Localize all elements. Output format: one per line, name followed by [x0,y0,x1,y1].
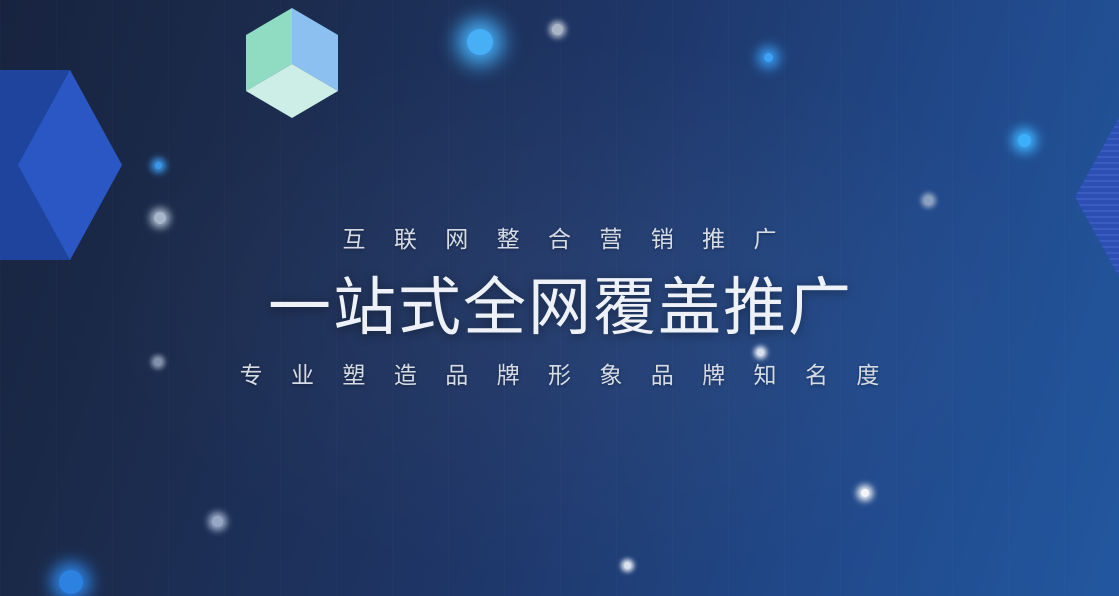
hero-eyebrow-text: 互 联 网 整 合 营 销 推 广 [0,222,1119,256]
glow-dot-pale-right [924,196,933,205]
isometric-cube-logo [243,4,341,122]
glow-dot-bottom-mid [624,562,631,569]
glow-dot-cyan-large [467,29,493,55]
glow-dot-blue [764,53,773,62]
hero-tagline-text: 专 业 塑 造 品 牌 形 象 品 牌 知 名 度 [0,358,1119,392]
glow-dot-bottom-blue [59,570,83,594]
glow-dot-lower-left [212,516,223,527]
glow-dot-white-right [861,489,869,497]
glow-dot-white-small [552,24,563,35]
hero-headline-text: 一站式全网覆盖推广 [0,270,1119,346]
hero-text-block: 互 联 网 整 合 营 销 推 广 一站式全网覆盖推广 专 业 塑 造 品 牌 … [0,222,1119,392]
hero-banner: 互 联 网 整 合 营 销 推 广 一站式全网覆盖推广 专 业 塑 造 品 牌 … [0,0,1119,596]
glow-dot-blue-left [155,162,162,169]
glow-dot-cyan-right [1018,134,1031,147]
